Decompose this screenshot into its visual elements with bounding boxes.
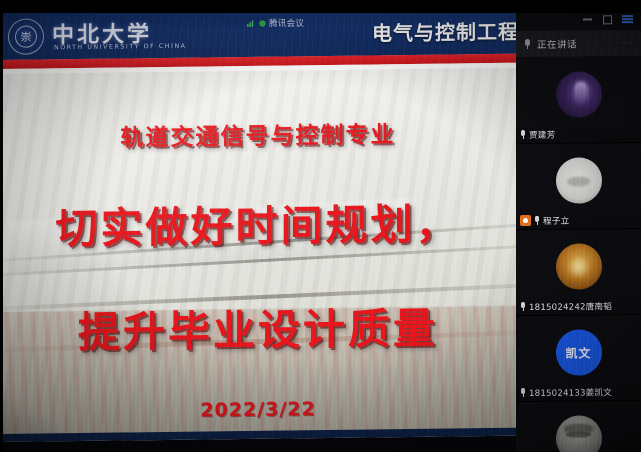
hamburger-icon xyxy=(622,15,633,23)
panel-overflow-menu[interactable]: ··· xyxy=(620,38,633,49)
participant-tile[interactable]: 凯文 1815024133姜凯文 xyxy=(516,314,641,401)
slide-subtitle: 轨道交通信号与控制专业 xyxy=(0,114,516,154)
avatar xyxy=(556,71,602,117)
microphone-icon xyxy=(520,302,526,311)
participant-namebar: 1815024133姜凯文 xyxy=(516,383,641,401)
participant-name: 1815024133姜凯文 xyxy=(529,386,612,399)
participant-tile[interactable]: 程子立 xyxy=(516,142,641,229)
tencent-meeting-panel: 正在讲话 ··· 贾建芳 程子立 xyxy=(516,8,641,452)
minimize-button[interactable] xyxy=(582,14,593,25)
participant-name: 1815024242唐南韬 xyxy=(529,300,612,313)
wifi-icon xyxy=(247,19,256,27)
microphone-icon xyxy=(524,38,531,49)
college-name: 电气与控制工程学院 xyxy=(372,15,516,46)
participant-tile-list: 贾建芳 程子立 1815024242唐南韬 xyxy=(516,56,641,452)
participant-namebar: 1815024242唐南韬 xyxy=(516,297,641,315)
meeting-app-indicator: 腾讯会议 xyxy=(247,17,304,29)
status-dot-icon xyxy=(259,20,266,27)
monitor-bezel-left xyxy=(0,0,3,452)
avatar-initials: 凯文 xyxy=(565,344,591,361)
avatar xyxy=(556,416,602,452)
host-badge-icon xyxy=(520,215,531,226)
avatar xyxy=(556,158,602,204)
monitor-bezel-top xyxy=(0,0,641,13)
participant-name: 贾建芳 xyxy=(529,128,555,140)
participant-namebar: 贾建芳 xyxy=(516,125,641,143)
participant-tile[interactable]: 贾建芳 xyxy=(516,56,641,143)
screenshot-root: 崇 中北大学 NORTH UNIVERSITY OF CHINA 电气与控制工程… xyxy=(0,0,641,452)
microphone-icon xyxy=(534,216,540,225)
speaking-label: 正在讲话 xyxy=(537,37,577,51)
participant-tile[interactable]: 1815024242唐南韬 xyxy=(516,228,641,315)
participant-namebar: 程子立 xyxy=(516,211,641,229)
meeting-app-name: 腾讯会议 xyxy=(269,17,304,29)
avatar: 凯文 xyxy=(556,330,602,376)
participant-tile[interactable] xyxy=(516,400,641,452)
microphone-icon xyxy=(520,388,526,397)
avatar xyxy=(556,244,602,290)
participant-name: 程子立 xyxy=(543,214,569,226)
microphone-icon xyxy=(520,130,526,139)
slide-title-line1: 切实做好时间规划， xyxy=(0,190,516,257)
seal-inner-glyph: 崇 xyxy=(15,26,37,48)
slide-title-line2: 提升毕业设计质量 xyxy=(0,294,516,361)
presentation-slide: 崇 中北大学 NORTH UNIVERSITY OF CHINA 电气与控制工程… xyxy=(0,6,516,442)
menu-button[interactable] xyxy=(622,14,633,25)
maximize-button[interactable] xyxy=(602,14,613,25)
speaking-status-row: 正在讲话 ··· xyxy=(516,30,641,57)
